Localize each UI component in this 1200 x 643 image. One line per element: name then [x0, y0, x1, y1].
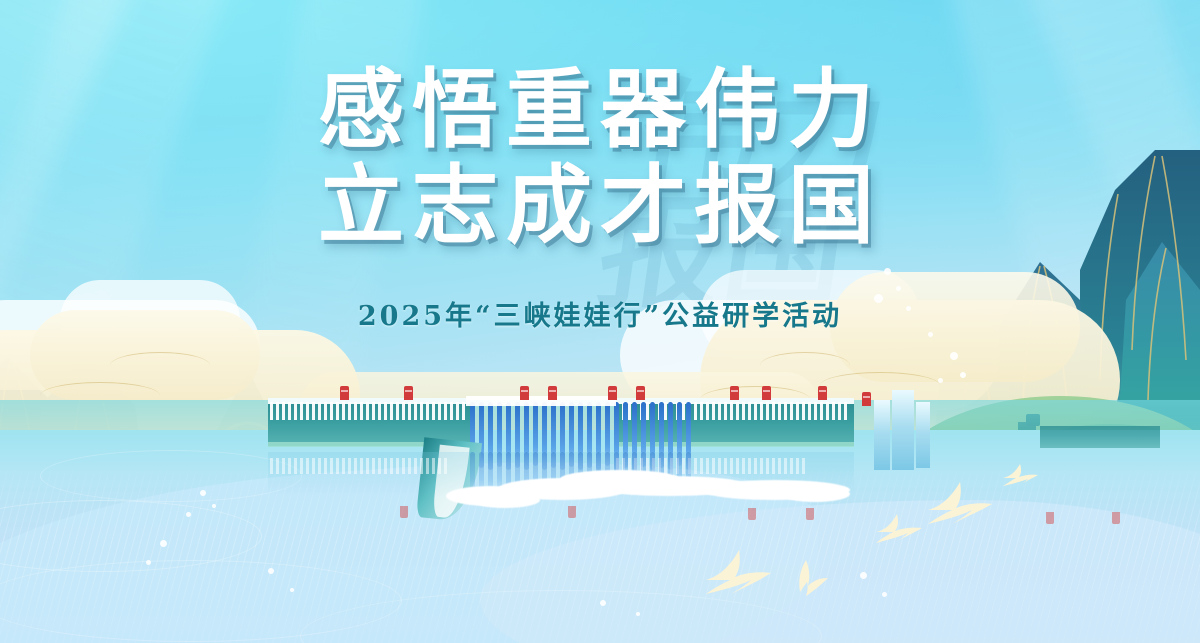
gantry-crane-reflection	[568, 506, 576, 518]
swallow-bird-icon	[700, 548, 778, 602]
bubble	[938, 378, 943, 383]
bubble	[960, 372, 966, 378]
ship-lock-tower	[916, 402, 930, 468]
ship-lock-tower	[874, 400, 890, 470]
gantry-crane	[636, 386, 645, 400]
dam-piers-reflection	[270, 458, 447, 474]
bubble	[636, 612, 640, 616]
bubble	[860, 572, 867, 579]
gantry-crane-reflection	[1112, 512, 1120, 524]
dam-piers-left	[270, 402, 465, 420]
bubble	[884, 268, 891, 275]
cloud-wisp-line	[110, 352, 210, 379]
poster-title: 感悟重器伟力 立志成才报国	[0, 62, 1200, 254]
gantry-crane-reflection	[748, 508, 756, 520]
swallow-bird-icon	[782, 558, 832, 598]
bubble	[896, 286, 901, 291]
gantry-crane	[762, 386, 771, 400]
swallow-bird-icon	[1000, 462, 1040, 490]
water-foam	[780, 486, 850, 502]
water-foam	[560, 470, 680, 488]
gantry-crane	[340, 386, 349, 400]
gantry-crane-reflection	[1046, 512, 1054, 524]
ship-lock-tower	[892, 390, 914, 470]
bubble	[160, 540, 167, 547]
gantry-crane	[520, 386, 529, 400]
bubble	[212, 504, 216, 508]
gantry-crane-reflection	[400, 506, 408, 518]
swallow-bird-icon	[922, 480, 1000, 532]
bubble	[186, 512, 191, 517]
bubble	[950, 352, 958, 360]
title-line-2: 立志成才报国	[0, 158, 1200, 254]
title-line-1: 感悟重器伟力	[0, 62, 1200, 158]
gantry-crane	[862, 392, 871, 406]
bubble	[600, 600, 606, 606]
swallow-bird-icon	[872, 512, 926, 548]
gantry-crane	[818, 386, 827, 400]
gantry-crane	[404, 386, 413, 400]
bubble	[268, 568, 274, 574]
gantry-crane-reflection	[806, 508, 814, 520]
bubble	[882, 592, 887, 597]
cloud-wisp-line	[760, 352, 850, 379]
water-foam	[470, 492, 540, 508]
poster-subtitle: 2025年“三峡娃娃行”公益研学活动	[0, 294, 1200, 333]
gantry-crane	[730, 386, 739, 400]
dam-wing-far-right	[1040, 426, 1160, 448]
gantry-crane	[608, 386, 617, 400]
bubble	[146, 560, 151, 565]
spillway-crest	[466, 396, 616, 406]
bubble	[290, 588, 294, 592]
banner-poster: 伟力 报国	[0, 0, 1200, 643]
gantry-crane	[548, 386, 557, 400]
bubble	[200, 490, 206, 496]
